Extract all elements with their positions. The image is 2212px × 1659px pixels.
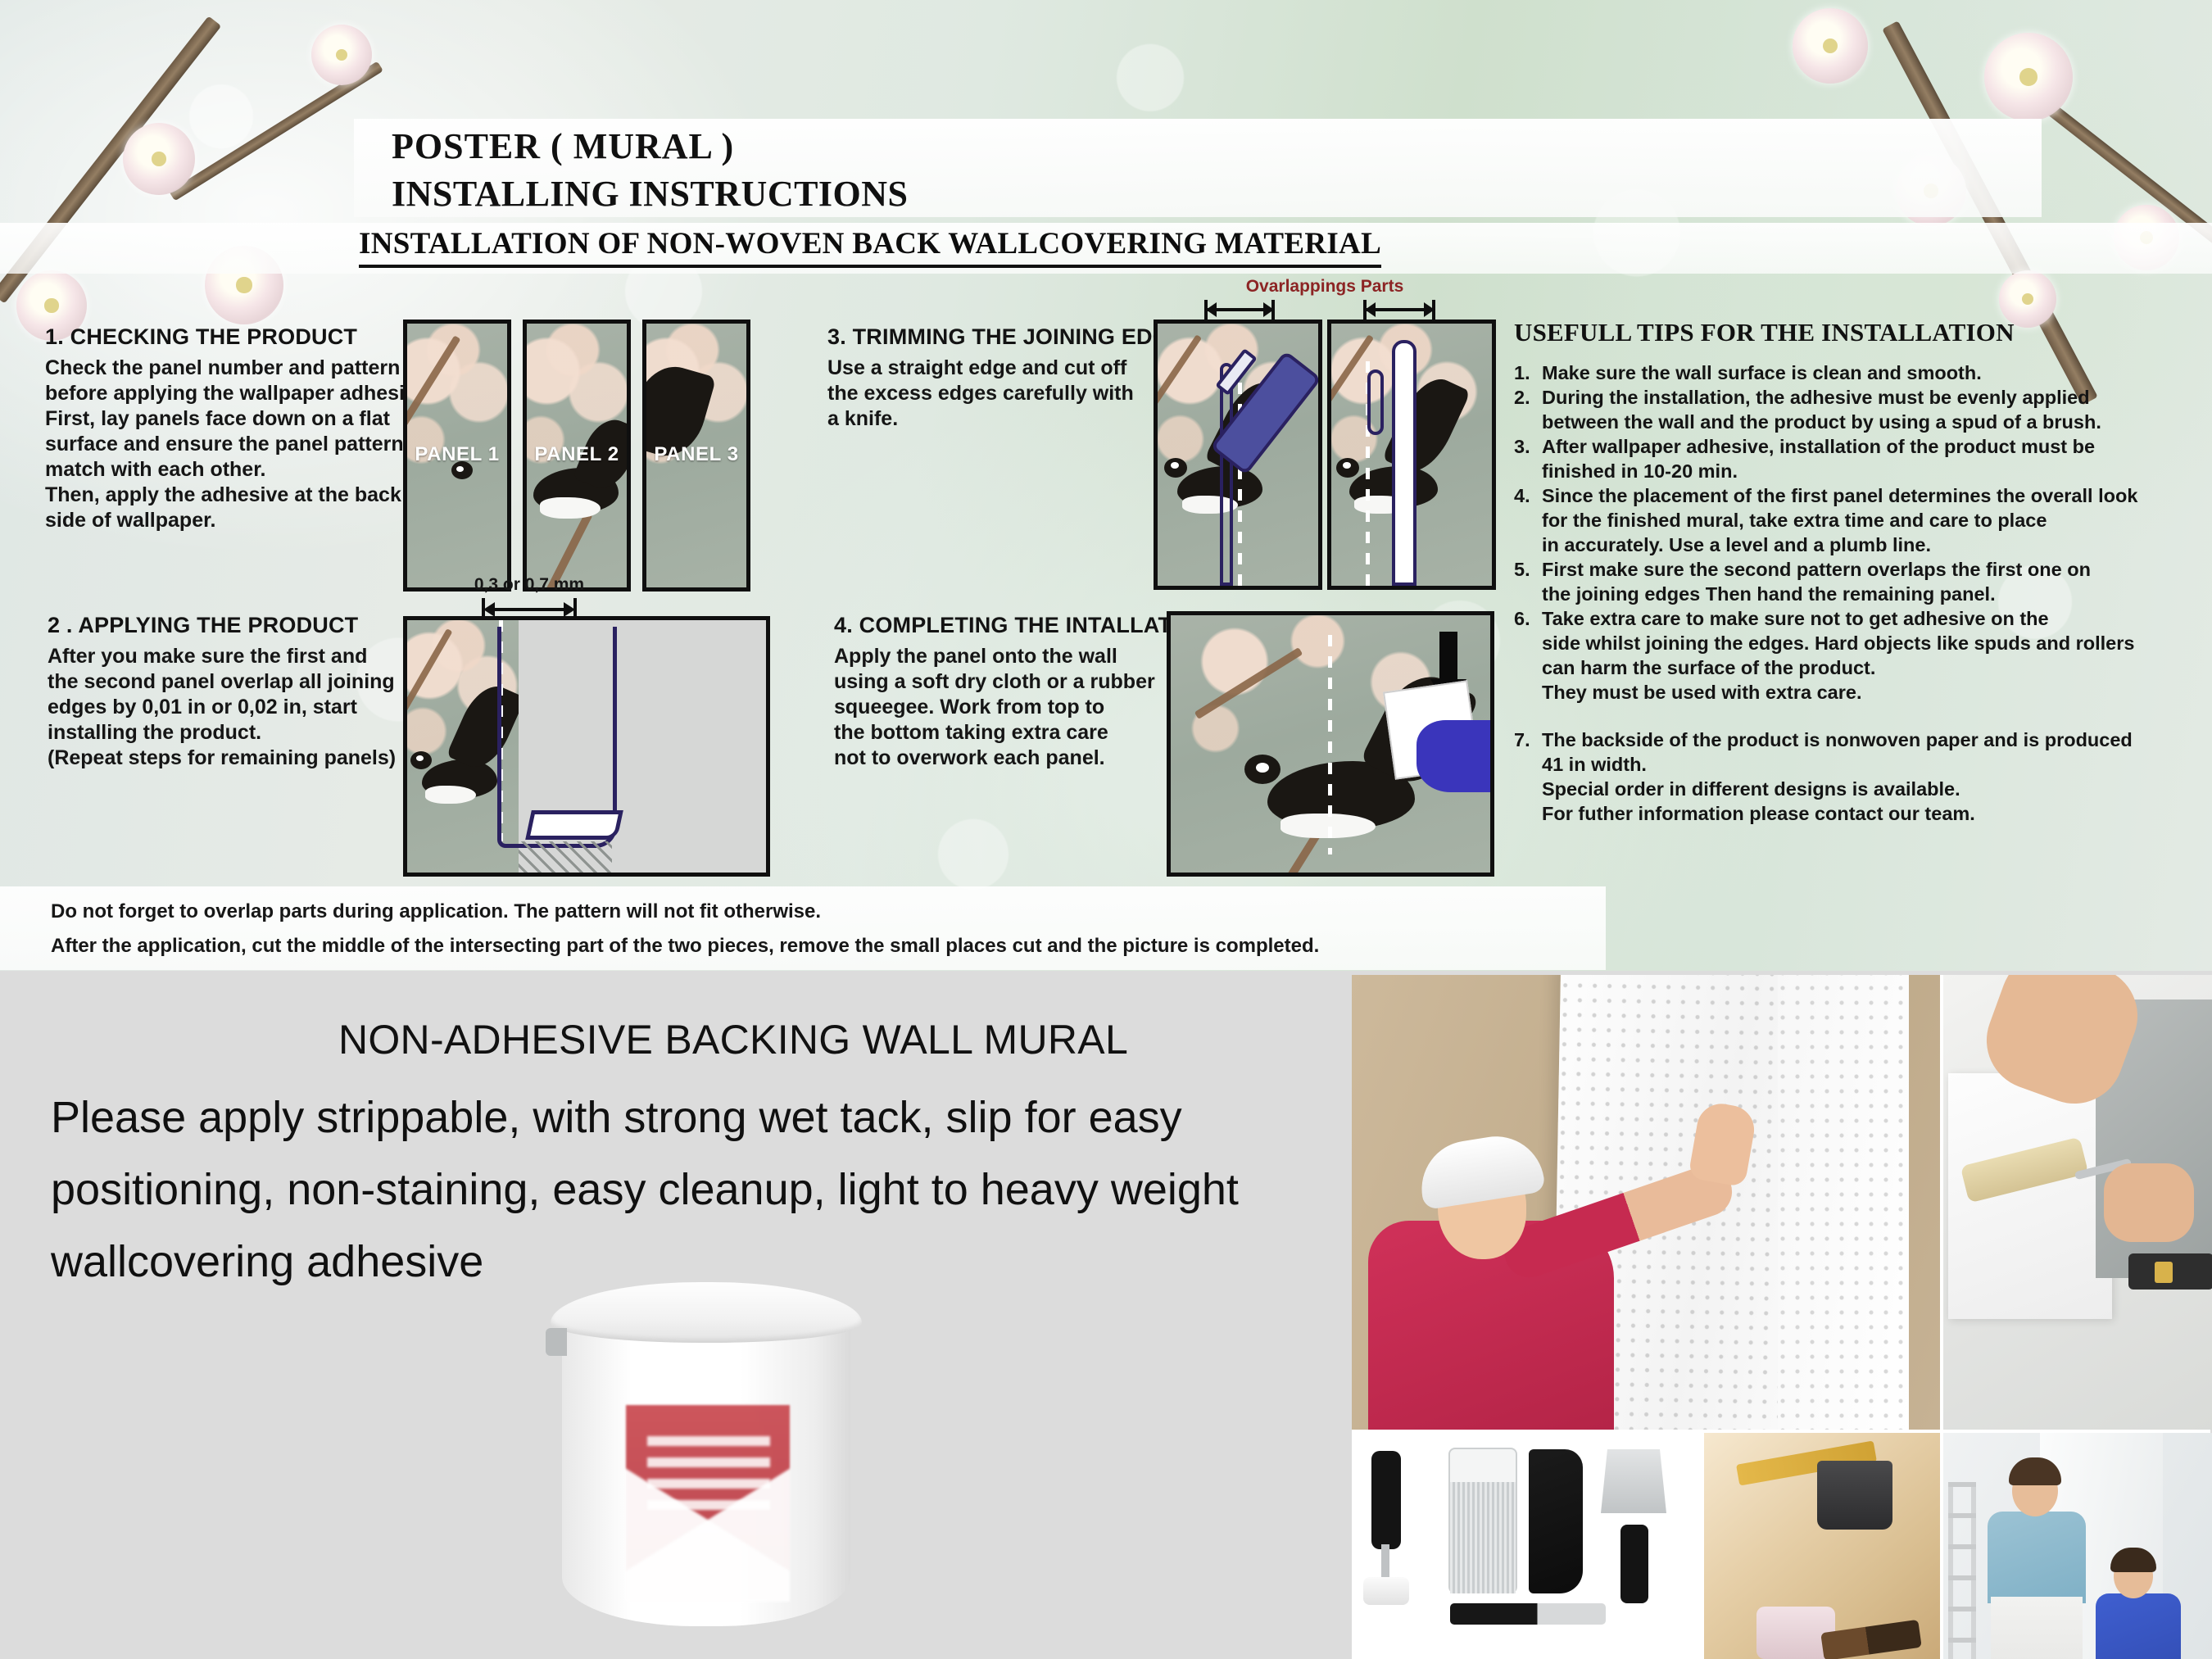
step-3-trimming-the-joining-edges: 3. TRIMMING THE JOINING EDGES Use a stra… [827, 324, 1180, 432]
step-1-line: before applying the wallpaper adhesive. [45, 381, 430, 406]
cut-guide-dashed-line [1238, 361, 1242, 586]
photo-applying-paste-with-roller [1943, 975, 2212, 1430]
bucket-handle [546, 1328, 567, 1356]
tip-line: Special order in different designs is av… [1542, 777, 2133, 801]
step-2-title: 2 . APPLYING THE PRODUCT [48, 613, 433, 638]
useful-tips-title: USEFULL TIPS FOR THE INSTALLATION [1514, 318, 2202, 347]
straight-edge-tool [1220, 363, 1233, 586]
tip-line: Make sure the wall surface is clean and … [1542, 360, 1982, 385]
person-hand [2104, 1163, 2194, 1242]
step-1-checking-the-product: 1. CHECKING THE PRODUCT Check the panel … [45, 324, 430, 533]
panel-2-illustration: PANEL 2 [523, 320, 631, 592]
step-2-line: installing the product. [48, 720, 433, 746]
step-4-line: Apply the panel onto the wall [834, 644, 1186, 669]
tip-number: 6. [1514, 606, 1542, 705]
seam-roller-wheel [1363, 1577, 1409, 1605]
panel-3-illustration: PANEL 3 [642, 320, 750, 592]
footer-note-line2: After the application, cut the middle of… [51, 929, 1607, 963]
tool-set [1352, 1433, 1704, 1659]
tip-line: During the installation, the adhesive mu… [1542, 385, 2101, 410]
belt-buckle [2155, 1262, 2173, 1283]
arrow-left-icon [483, 602, 495, 617]
panel-2-label: PANEL 2 [527, 443, 627, 466]
diagram-completing-installation [1167, 611, 1494, 877]
arrow-left-icon [1365, 302, 1376, 317]
tip-text: Take extra care to make sure not to get … [1542, 606, 2134, 705]
step-1-line: Check the panel number and pattern [45, 356, 430, 381]
seam-roller-handle [1371, 1451, 1401, 1549]
tip-line: They must be used with extra care. [1542, 680, 2134, 705]
tip-line: Take extra care to make sure not to get … [1542, 606, 2134, 631]
step-3-body: Use a straight edge and cut off the exce… [827, 356, 1180, 432]
useful-tips-section: USEFULL TIPS FOR THE INSTALLATION 1. Mak… [1514, 318, 2202, 826]
page-title-line1: POSTER ( MURAL ) [392, 123, 1375, 170]
arrow-right-icon [564, 602, 575, 617]
tip-item: 6. Take extra care to make sure not to g… [1514, 606, 2202, 705]
tip-line: The backside of the product is nonwoven … [1542, 728, 2133, 752]
step-1-line: surface and ensure the panel patterns [45, 432, 430, 457]
smoothing-tool-pad [525, 810, 623, 840]
overlapping-parts-callout: Ovarlappings Parts [1190, 277, 1460, 324]
smoothing-brush-bristles [1450, 1482, 1516, 1593]
step-2-applying-the-product: 2 . APPLYING THE PRODUCT After you make … [48, 613, 433, 771]
tip-line: can harm the surface of the product. [1542, 655, 2134, 680]
press-down-arrow-icon [1439, 632, 1457, 682]
trimming-frame-straightedge [1327, 320, 1496, 590]
photo-two-people-installing [1943, 1433, 2212, 1659]
tip-line: For futher information please contact ou… [1542, 801, 2133, 826]
step-2-line: After you make sure the first and [48, 644, 433, 669]
panel-1-illustration: PANEL 1 [403, 320, 511, 592]
tip-item: 4. Since the placement of the first pane… [1514, 483, 2202, 557]
tip-number: 2. [1514, 385, 1542, 434]
step-4-line: squeegee. Work from top to [834, 695, 1186, 720]
step-1-body: Check the panel number and pattern befor… [45, 356, 430, 533]
footer-note: Do not forget to overlap parts during ap… [51, 895, 1607, 963]
tip-item: 2. During the installation, the adhesive… [1514, 385, 2202, 434]
photo-installation-tools [1352, 1433, 1940, 1659]
tip-line: for the finished mural, take extra time … [1542, 508, 2137, 533]
man-pants [1991, 1597, 2083, 1659]
tip-text: The backside of the product is nonwoven … [1542, 728, 2133, 826]
panel-1-label: PANEL 1 [407, 443, 507, 466]
step-4-line: not to overwork each panel. [834, 746, 1186, 771]
straight-edge-tool [1392, 340, 1416, 586]
arrow-right-icon [1263, 302, 1274, 317]
boy-shirt [2096, 1593, 2181, 1659]
tip-number: 5. [1514, 557, 1542, 606]
step-2-body: After you make sure the first and the se… [48, 644, 433, 771]
step-2-line: (Repeat steps for remaining panels) [48, 746, 433, 771]
step-2-line: edges by 0,01 in or 0,02 in, start [48, 695, 433, 720]
scraper-blade [1601, 1449, 1666, 1531]
step-4-title: 4. COMPLETING THE INTALLATION [834, 613, 1186, 638]
arrow-right-icon [1424, 302, 1435, 317]
diagram-three-panels: PANEL 1 PANEL 2 PANEL 3 [403, 320, 770, 592]
panel-3-label: PANEL 3 [646, 443, 746, 466]
tip-text: During the installation, the adhesive mu… [1542, 385, 2101, 434]
bucket-label-text-lines [647, 1436, 770, 1521]
step-1-line: Then, apply the adhesive at the back [45, 483, 430, 508]
scraper-handle [1620, 1525, 1648, 1603]
tip-number: 7. [1514, 728, 1542, 826]
overlapping-parts-label: Ovarlappings Parts [1190, 277, 1460, 297]
tip-text: First make sure the second pattern overl… [1542, 557, 2091, 606]
tip-item: 5. First make sure the second pattern ov… [1514, 557, 2202, 606]
promo-body-line: Please apply strippable, with strong wet… [51, 1081, 1329, 1154]
promo-body-line: positioning, non-staining, easy cleanup,… [51, 1154, 1329, 1226]
step-4-line: the bottom taking extra care [834, 720, 1186, 746]
straight-edge-handle [1367, 369, 1384, 435]
bucket-lid [551, 1282, 862, 1343]
photo-collage [1352, 975, 2210, 1659]
trimming-frame-knife [1154, 320, 1322, 590]
tip-text: After wallpaper adhesive, installation o… [1542, 434, 2095, 483]
adhesive-bucket-image [551, 1282, 862, 1634]
cut-guide-dashed-line [1328, 635, 1332, 854]
step-1-line: match with each other. [45, 457, 430, 483]
tip-line: First make sure the second pattern overl… [1542, 557, 2091, 582]
step-1-line: First, lay panels face down on a flat [45, 406, 430, 432]
step-3-title: 3. TRIMMING THE JOINING EDGES [827, 324, 1180, 350]
tip-line: 41 in width. [1542, 752, 2133, 777]
tip-number: 1. [1514, 360, 1542, 385]
footer-note-line1: Do not forget to overlap parts during ap… [51, 895, 1607, 929]
paste-bucket [1817, 1461, 1892, 1530]
page-subtitle: INSTALLATION OF NON-WOVEN BACK WALLCOVER… [359, 226, 1381, 268]
tip-line: between the wall and the product by usin… [1542, 410, 2101, 434]
promo-body: Please apply strippable, with strong wet… [51, 1081, 1329, 1298]
diagram-applying-panel [403, 616, 770, 877]
gap-measurement-label: 0,3 or 0,7 mm [439, 575, 619, 595]
tip-line: Since the placement of the first panel d… [1542, 483, 2137, 508]
installation-instructions-panel: POSTER ( MURAL ) INSTALLING INSTRUCTIONS… [0, 0, 2212, 971]
tip-text: Since the placement of the first panel d… [1542, 483, 2137, 557]
step-3-line: a knife. [827, 406, 1180, 432]
step-3-line: the excess edges carefully with [827, 381, 1180, 406]
diagram-trimming-edges [1154, 320, 1496, 590]
promo-heading: NON-ADHESIVE BACKING WALL MURAL [307, 1016, 1159, 1063]
step-4-body: Apply the panel onto the wall using a so… [834, 644, 1186, 771]
tip-line: After wallpaper adhesive, installation o… [1542, 434, 2095, 459]
tip-number: 4. [1514, 483, 1542, 557]
rubber-squeegee [1529, 1449, 1583, 1593]
gloved-hand-illustration [1416, 720, 1494, 792]
tip-line: in accurately. Use a level and a plumb l… [1542, 533, 2137, 557]
photo-woman-hanging-wallpaper [1352, 975, 1940, 1430]
step-4-completing-the-installation: 4. COMPLETING THE INTALLATION Apply the … [834, 613, 1186, 771]
tip-line: the joining edges Then hand the remainin… [1542, 582, 2091, 606]
ladder [1948, 1482, 1976, 1659]
step-3-line: Use a straight edge and cut off [827, 356, 1180, 381]
page-title: POSTER ( MURAL ) INSTALLING INSTRUCTIONS [392, 123, 1375, 218]
tip-number: 3. [1514, 434, 1542, 483]
tip-line: side whilst joining the edges. Hard obje… [1542, 631, 2134, 655]
nonwoven-sheet-second [1778, 975, 1909, 1430]
tip-item: 3. After wallpaper adhesive, installatio… [1514, 434, 2202, 483]
step-1-line: side of wallpaper. [45, 508, 430, 533]
tip-text: Make sure the wall surface is clean and … [1542, 360, 1982, 385]
tip-item: 7. The backside of the product is nonwov… [1514, 728, 2202, 826]
utility-knife [1450, 1603, 1606, 1625]
tip-line: finished in 10-20 min. [1542, 459, 2095, 483]
step-4-line: using a soft dry cloth or a rubber [834, 669, 1186, 695]
paste-brush [1820, 1620, 1922, 1659]
step-2-line: the second panel overlap all joining [48, 669, 433, 695]
supplies-photo [1704, 1433, 1940, 1659]
step-1-title: 1. CHECKING THE PRODUCT [45, 324, 430, 350]
useful-tips-list: 1. Make sure the wall surface is clean a… [1514, 360, 2202, 826]
man-shirt [1988, 1512, 2086, 1603]
arrow-left-icon [1206, 302, 1217, 317]
page-title-line2: INSTALLING INSTRUCTIONS [392, 170, 1375, 218]
tip-item: 1. Make sure the wall surface is clean a… [1514, 360, 2202, 385]
hatched-overlap-area [519, 841, 612, 877]
